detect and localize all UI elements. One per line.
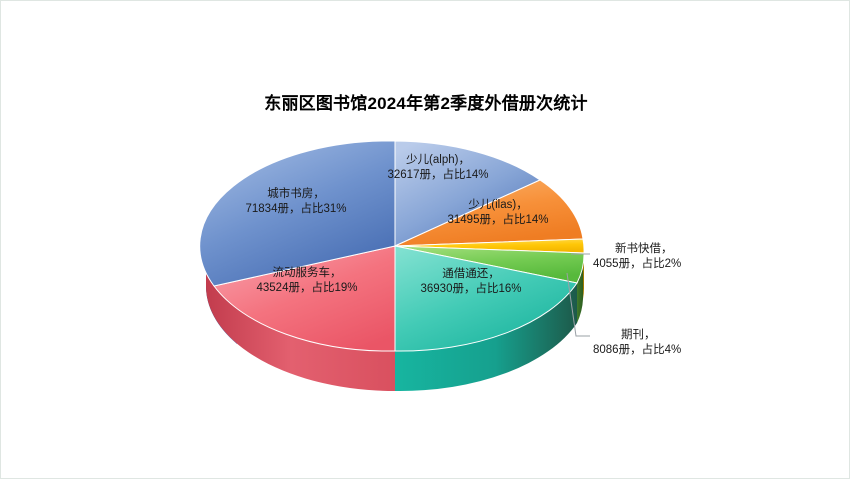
- pie-chart-3d: [1, 1, 850, 479]
- pie-top-faces: [200, 141, 584, 351]
- chart-page: 东丽区图书馆2024年第2季度外借册次统计: [0, 0, 850, 479]
